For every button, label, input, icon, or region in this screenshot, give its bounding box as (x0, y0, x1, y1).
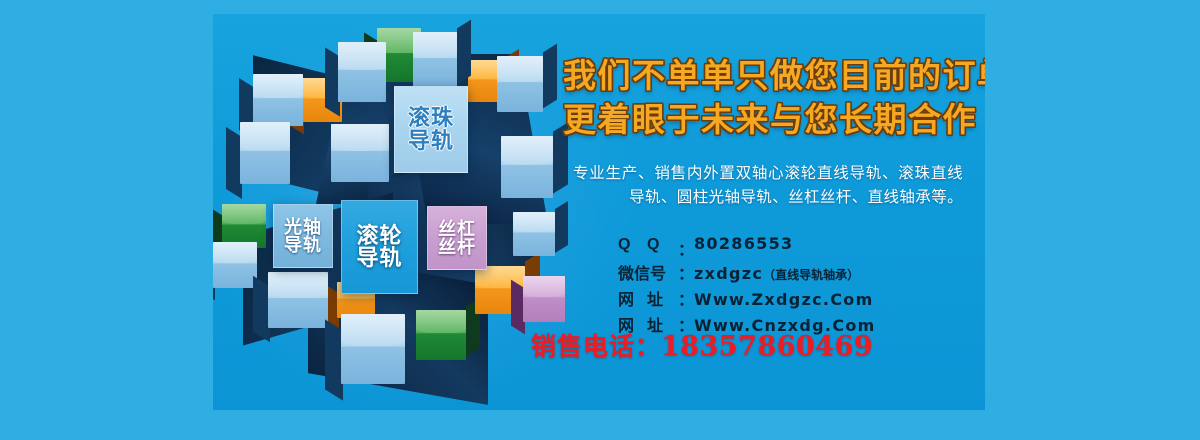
headline-line-1: 我们不单单只做您目前的订单 (563, 55, 985, 97)
contact-colon-website-1: ： (678, 286, 694, 310)
contact-value-qq: 80286553 (694, 234, 793, 253)
cube-cluster-graphic: 滚珠 导轨 光轴 导轨 丝杠 丝杆 滚轮 导轨 (213, 14, 573, 410)
sales-phone-label: 销售电话： (531, 333, 661, 361)
blue-cube (268, 272, 328, 328)
cube-label-shaft-rail: 光轴 导轨 (273, 204, 333, 268)
blue-cube (513, 212, 555, 256)
banner-content: 我们不单单只做您目前的订单 更着眼于未来与您长期合作 专业生产、销售内外置双轴心… (558, 14, 978, 410)
contact-info-list: Q Q ： 80286553 微信号 ： zxdgzc （直线导轨轴承） (618, 234, 876, 338)
cube-label-ball-rail-line2: 导轨 (408, 130, 454, 152)
banner-panel: 滚珠 导轨 光轴 导轨 丝杠 丝杆 滚轮 导轨 我们不单单只做您目前的订单 更着… (213, 14, 985, 410)
blue-cube (413, 32, 457, 88)
cube-label-shaft-rail-line1: 光轴 (284, 218, 322, 236)
contact-note-wechat: （直线导轨轴承） (763, 266, 859, 283)
cube-label-roller-rail-line2: 导轨 (356, 247, 402, 269)
sales-phone: 销售电话：18357860469 (531, 327, 873, 363)
blue-cube (501, 136, 553, 198)
cube-label-roller-rail: 滚轮 导轨 (341, 200, 418, 294)
company-description: 专业生产、销售内外置双轴心滚轮直线导轨、滚珠直线导轨、圆柱光轴导轨、丝杠丝杆、直… (573, 162, 963, 210)
sales-phone-number: 18357860469 (661, 331, 873, 362)
contact-label-wechat: 微信号 ： (618, 260, 694, 284)
contact-label-qq: Q Q ： (618, 236, 694, 260)
contact-value-wechat: zxdgzc (694, 264, 763, 283)
cube-label-roller-rail-line1: 滚轮 (356, 225, 402, 247)
cube-label-ball-rail-line1: 滚珠 (408, 107, 454, 129)
blue-cube (338, 42, 386, 102)
contact-row-qq: Q Q ： 80286553 (618, 234, 876, 256)
green-cube (416, 310, 466, 360)
promo-banner: 滚珠 导轨 光轴 导轨 丝杠 丝杆 滚轮 导轨 我们不单单只做您目前的订单 更着… (0, 0, 1200, 440)
contact-label-website-1-a: 网 (618, 286, 634, 310)
cube-label-screw-rod-line2: 丝杆 (438, 238, 476, 256)
blue-cube (341, 314, 405, 384)
cube-label-screw-rod-line1: 丝杠 (438, 220, 476, 238)
blue-cube (213, 242, 257, 288)
cube-label-shaft-rail-line2: 导轨 (284, 236, 322, 254)
blue-cube (331, 124, 389, 182)
blue-cube (253, 74, 303, 126)
cube-label-ball-rail: 滚珠 导轨 (394, 86, 468, 173)
blue-cube (240, 122, 290, 184)
contact-label-qq-a: Q (618, 236, 630, 260)
contact-label-qq-b: Q (647, 236, 659, 260)
contact-row-wechat: 微信号 ： zxdgzc （直线导轨轴承） (618, 260, 876, 282)
contact-label-website-1-b: 址 (647, 286, 663, 310)
contact-colon-wechat: ： (678, 260, 694, 284)
blue-cube (497, 56, 543, 112)
cube-label-screw-rod: 丝杠 丝杆 (427, 206, 487, 270)
contact-label-website-1: 网 址 ： (618, 286, 694, 310)
headline-line-2: 更着眼于未来与您长期合作 (563, 99, 977, 141)
contact-row-website-1: 网 址 ： Www.Zxdgzc.Com (618, 286, 876, 308)
contact-value-website-1[interactable]: Www.Zxdgzc.Com (694, 290, 874, 309)
contact-label-wechat-a: 微信号 (618, 260, 666, 284)
contact-colon-qq: ： (678, 236, 694, 260)
